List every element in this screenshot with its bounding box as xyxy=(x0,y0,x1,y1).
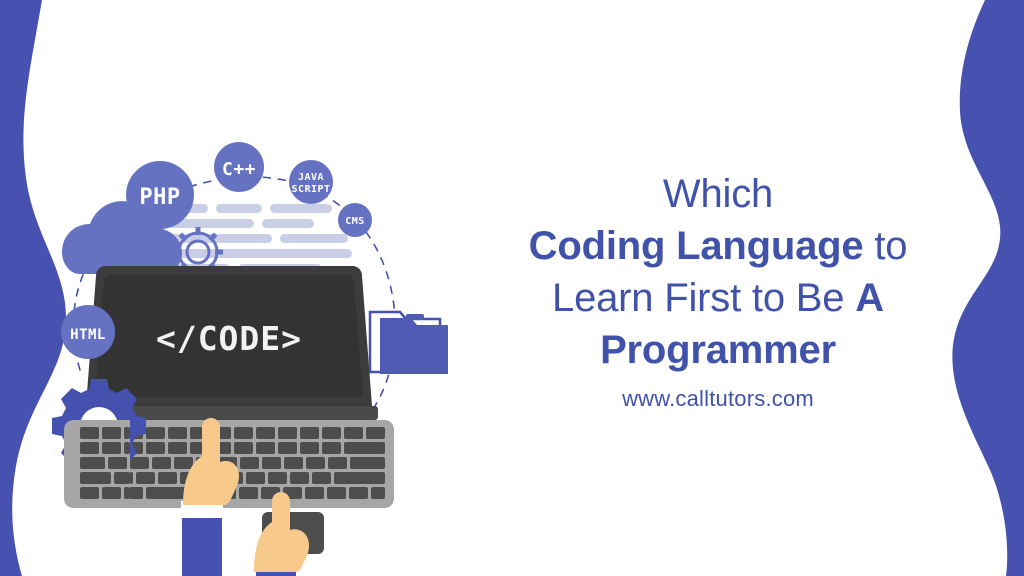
poster-canvas: </CODE> xyxy=(0,0,1024,576)
bubble-javascript-label-line1: JAVA xyxy=(298,172,324,183)
bubble-cpp-label: C++ xyxy=(222,159,256,180)
screen-code-text: </CODE> xyxy=(156,319,302,358)
headline-block: Which Coding Language to Learn First to … xyxy=(484,168,952,412)
bubble-cpp[interactable]: C++ xyxy=(214,142,264,192)
bubble-javascript[interactable]: JAVA SCRIPT xyxy=(289,160,333,204)
right-wave-shape xyxy=(952,0,1024,576)
website-url: www.calltutors.com xyxy=(484,386,952,412)
bubble-php[interactable]: PHP xyxy=(126,161,194,229)
headline-line-3-head: Learn First to Be xyxy=(552,276,855,320)
headline-line-1: Which xyxy=(663,172,773,216)
bubble-php-label: PHP xyxy=(139,185,180,210)
bubble-cms[interactable]: CMS xyxy=(338,203,372,237)
folder-icon xyxy=(370,312,448,374)
bubble-cms-label: CMS xyxy=(345,216,365,227)
headline-line-2-bold: Coding Language xyxy=(529,224,864,268)
bubble-html-label: HTML xyxy=(70,327,106,343)
headline-line-3-bold: A xyxy=(855,276,884,320)
headline-line-4-bold: Programmer xyxy=(600,328,836,372)
bubble-html[interactable]: HTML xyxy=(61,305,115,359)
coding-illustration: </CODE> xyxy=(40,120,480,576)
page-title: Which Coding Language to Learn First to … xyxy=(484,168,952,376)
headline-line-2-tail: to xyxy=(863,224,907,268)
bubble-javascript-label-line2: SCRIPT xyxy=(291,184,330,195)
